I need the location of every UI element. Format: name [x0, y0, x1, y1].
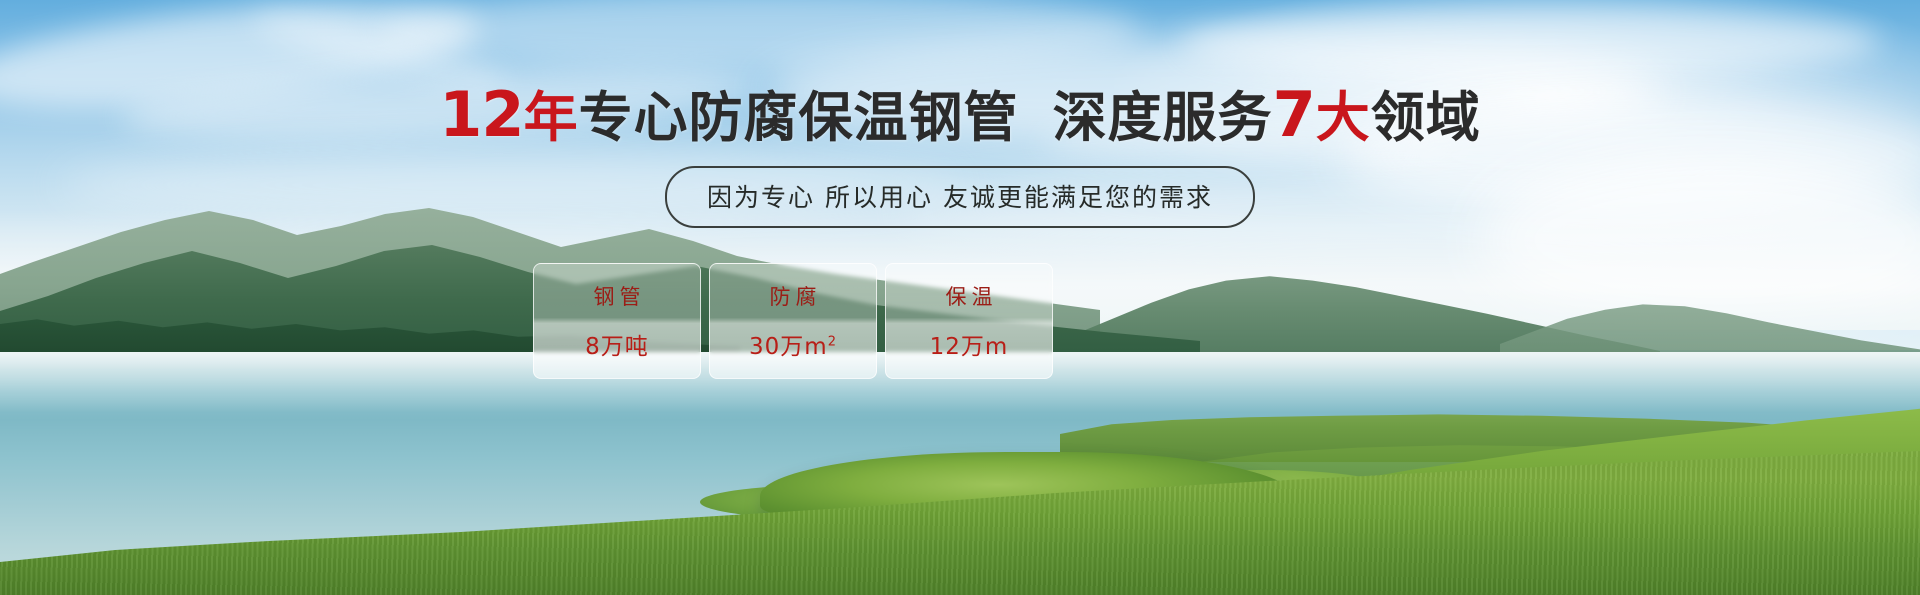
- stat-card-steel-pipe: 钢管 8万吨: [533, 263, 701, 379]
- stat-card-value-main: 12万m: [930, 334, 1009, 360]
- banner-content: 12年专心防腐保温钢管深度服务7大领域 因为专心 所以用心 友诚更能满足您的需求…: [0, 0, 1920, 595]
- stat-card-value: 12万m: [930, 327, 1009, 361]
- stat-card-value-main: 8万吨: [585, 334, 649, 360]
- headline-main-text: 专心防腐保温钢管: [579, 91, 1019, 145]
- subtitle-wrapper: 因为专心 所以用心 友诚更能满足您的需求: [0, 166, 1920, 228]
- headline-fields-number: 7: [1273, 84, 1316, 146]
- stat-card-value: 30万m2: [749, 327, 837, 361]
- stat-card-label: 防腐: [765, 281, 822, 311]
- headline-fields-unit: 大: [1316, 91, 1371, 145]
- stat-card-insulation: 保温 12万m: [885, 263, 1053, 379]
- stat-card-label: 保温: [941, 281, 998, 311]
- headline: 12年专心防腐保温钢管深度服务7大领域: [0, 84, 1920, 146]
- headline-fields-tail: 领域: [1371, 91, 1481, 145]
- stat-card-group: 钢管 8万吨 防腐 30万m2 保温 12万m: [533, 263, 1053, 379]
- stat-card-value: 8万吨: [585, 327, 649, 361]
- stat-card-value-main: 30万m: [749, 334, 828, 360]
- promo-banner: 12年专心防腐保温钢管深度服务7大领域 因为专心 所以用心 友诚更能满足您的需求…: [0, 0, 1920, 595]
- headline-years-unit: 年: [524, 91, 579, 145]
- headline-service-text: 深度服务: [1053, 91, 1273, 145]
- stat-card-anticorrosion: 防腐 30万m2: [709, 263, 877, 379]
- headline-years-number: 12: [439, 84, 523, 146]
- stat-card-label: 钢管: [589, 281, 646, 311]
- stat-card-value-superscript: 2: [828, 334, 837, 349]
- subtitle-pill: 因为专心 所以用心 友诚更能满足您的需求: [665, 166, 1255, 228]
